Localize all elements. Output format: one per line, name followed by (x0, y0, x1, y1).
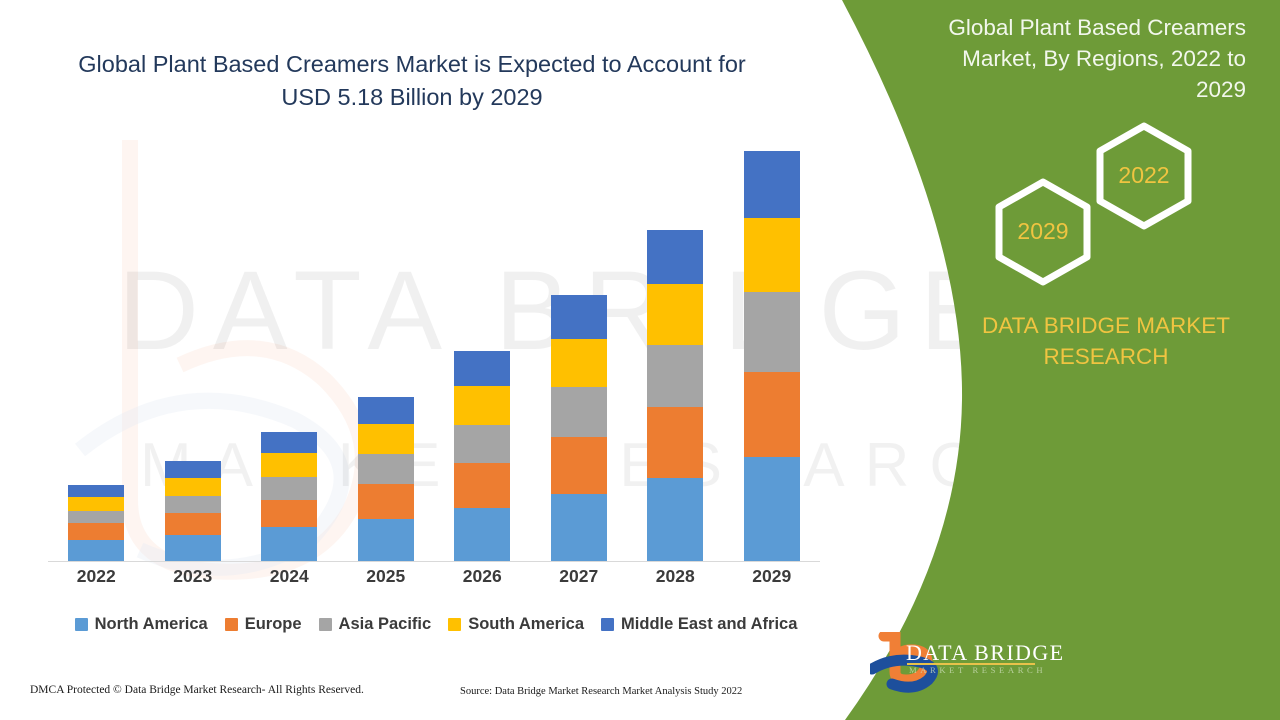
bar-segment (165, 478, 221, 496)
stacked-bar (647, 230, 703, 561)
x-axis-label: 2029 (724, 566, 821, 587)
x-axis-label: 2022 (48, 566, 145, 587)
hexagon-2029-label: 2029 (1000, 218, 1086, 245)
bar-segment (165, 513, 221, 534)
chart-bars-area (48, 151, 820, 561)
bar-segment (744, 151, 800, 218)
legend-swatch-icon (75, 618, 88, 631)
legend-label: North America (95, 615, 208, 634)
legend-item[interactable]: South America (448, 615, 584, 634)
bar-segment (551, 437, 607, 494)
bar-segment (454, 386, 510, 425)
bar-segment (358, 424, 414, 454)
x-axis-label: 2027 (531, 566, 628, 587)
x-axis-label: 2026 (434, 566, 531, 587)
legend-item[interactable]: North America (75, 615, 208, 634)
bar-segment (68, 523, 124, 540)
bar-segment (551, 295, 607, 339)
bar-segment (68, 511, 124, 524)
legend-item[interactable]: Asia Pacific (319, 615, 432, 634)
stacked-bar (551, 295, 607, 560)
page-title: Global Plant Based Creamers Market is Ex… (52, 48, 772, 114)
bar-segment (551, 494, 607, 560)
stacked-bar (358, 397, 414, 561)
legend-swatch-icon (319, 618, 332, 631)
bar-segment (744, 292, 800, 372)
bar-segment (68, 485, 124, 498)
chart-legend: North AmericaEuropeAsia PacificSouth Ame… (48, 615, 824, 634)
bar-segment (647, 230, 703, 284)
legend-item[interactable]: Middle East and Africa (601, 615, 797, 634)
bar-segment (647, 478, 703, 561)
x-axis-label: 2024 (241, 566, 338, 587)
bar-segment (261, 500, 317, 528)
bar-segment (454, 351, 510, 386)
bar-segment (744, 457, 800, 561)
x-axis-line (48, 561, 820, 562)
bar-segment (261, 432, 317, 453)
bar-column (145, 151, 242, 561)
x-axis-label: 2025 (338, 566, 435, 587)
bar-segment (358, 519, 414, 561)
bar-column (48, 151, 145, 561)
stacked-bar-chart (48, 150, 820, 562)
bar-segment (68, 497, 124, 510)
bar-segment (261, 527, 317, 560)
bar-segment (744, 372, 800, 457)
bar-segment (744, 218, 800, 292)
bar-segment (647, 407, 703, 477)
infographic-canvas: DATA BRIDGE MARKET RESEARCH Global Plant… (0, 0, 1280, 720)
footer-copyright: DMCA Protected © Data Bridge Market Rese… (30, 684, 364, 696)
bar-column (434, 151, 531, 561)
bar-segment (454, 463, 510, 507)
bar-segment (358, 484, 414, 519)
stacked-bar (68, 485, 124, 561)
footer-source: Source: Data Bridge Market Research Mark… (460, 686, 742, 697)
bar-segment (165, 461, 221, 478)
bar-segment (261, 453, 317, 477)
legend-swatch-icon (225, 618, 238, 631)
legend-swatch-icon (448, 618, 461, 631)
stacked-bar (165, 461, 221, 561)
bar-column (338, 151, 435, 561)
bar-segment (454, 508, 510, 561)
stacked-bar (261, 432, 317, 561)
bar-column (627, 151, 724, 561)
bar-segment (261, 477, 317, 500)
legend-item[interactable]: Europe (225, 615, 302, 634)
bar-column (241, 151, 338, 561)
stacked-bar (454, 351, 510, 561)
bar-segment (68, 540, 124, 561)
bar-segment (358, 397, 414, 424)
bar-segment (647, 345, 703, 408)
bar-segment (358, 454, 414, 484)
bar-column (724, 151, 821, 561)
x-axis-label: 2023 (145, 566, 242, 587)
x-axis-tick-labels: 20222023202420252026202720282029 (48, 566, 820, 587)
legend-label: Middle East and Africa (621, 615, 797, 634)
logo-tagline: MARKET RESEARCH (909, 665, 1046, 675)
bar-segment (454, 425, 510, 464)
bar-segment (551, 387, 607, 437)
legend-swatch-icon (601, 618, 614, 631)
brand-panel: 2022 2029 Global Plant Based Creamers Ma… (810, 0, 1280, 720)
x-axis-label: 2028 (627, 566, 724, 587)
brand-name-text: DATA BRIDGE MARKET RESEARCH (945, 310, 1267, 372)
legend-label: South America (468, 615, 584, 634)
legend-label: Asia Pacific (339, 615, 432, 634)
stacked-bar (744, 151, 800, 561)
bar-segment (647, 284, 703, 345)
bar-segment (165, 496, 221, 513)
bar-segment (165, 535, 221, 561)
panel-heading: Global Plant Based Creamers Market, By R… (926, 12, 1246, 105)
legend-label: Europe (245, 615, 302, 634)
bar-column (531, 151, 628, 561)
hexagon-2022-label: 2022 (1101, 162, 1187, 189)
bar-segment (551, 339, 607, 387)
